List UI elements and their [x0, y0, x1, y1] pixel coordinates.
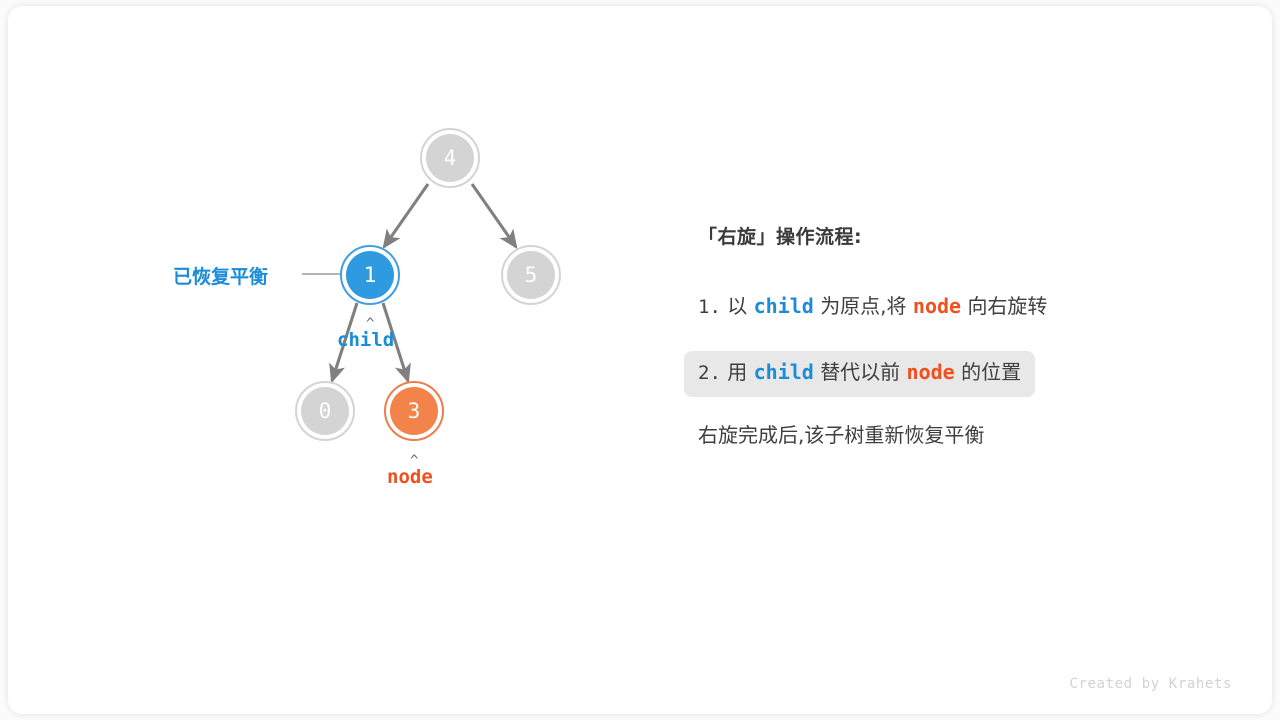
step-1-number: 1. — [698, 296, 721, 318]
step-1-code-child: child — [754, 294, 814, 318]
step-2-number: 2. — [698, 362, 721, 384]
step-1-part-2: 为原点,将 — [820, 294, 906, 318]
step-2: 2. 用 child 替代以前 node 的位置 — [684, 351, 1035, 397]
step-1-part-3: 向右旋转 — [967, 294, 1047, 318]
step-1-code-node: node — [913, 294, 961, 318]
balanced-annotation-label: 已恢复平衡 — [173, 262, 268, 289]
tree-node-4-value: 4 — [426, 134, 474, 182]
panel-title: 「右旋」操作流程: — [698, 222, 1218, 249]
step-1-part-1: 以 — [727, 294, 747, 318]
tree-node-5[interactable]: 5 — [501, 245, 561, 305]
step-row-2: 2. 用 child 替代以前 node 的位置 — [698, 351, 1218, 397]
step-2-code-child: child — [754, 360, 814, 384]
node-annotation-label: node — [387, 466, 433, 488]
explanation-panel: 「右旋」操作流程: 1. 以 child 为原点,将 node 向右旋转 2. … — [698, 222, 1218, 448]
tree-node-0[interactable]: 0 — [295, 381, 355, 441]
tree-node-1-value: 1 — [346, 251, 394, 299]
step-row-1: 1. 以 child 为原点,将 node 向右旋转 — [698, 285, 1218, 331]
tree-node-3-value: 3 — [390, 387, 438, 435]
tree-node-0-value: 0 — [301, 387, 349, 435]
watermark-credit: Created by Krahets — [1069, 676, 1232, 692]
step-2-part-2: 替代以前 — [820, 360, 900, 384]
tree-node-3[interactable]: 3 — [384, 381, 444, 441]
panel-conclusion: 右旋完成后,该子树重新恢复平衡 — [698, 419, 1218, 448]
step-2-part-3: 的位置 — [961, 360, 1021, 384]
step-1: 1. 以 child 为原点,将 node 向右旋转 — [684, 285, 1061, 331]
tree-node-1[interactable]: 1 — [340, 245, 400, 305]
tree-node-5-value: 5 — [507, 251, 555, 299]
diagram-canvas: 4 1 5 0 3 已恢复平衡 ^ child ^ node 「右旋」操作流程:… — [0, 0, 1280, 720]
step-2-code-node: node — [907, 360, 955, 384]
step-2-part-1: 用 — [727, 360, 747, 384]
child-annotation-label: child — [337, 329, 394, 351]
tree-node-4[interactable]: 4 — [420, 128, 480, 188]
